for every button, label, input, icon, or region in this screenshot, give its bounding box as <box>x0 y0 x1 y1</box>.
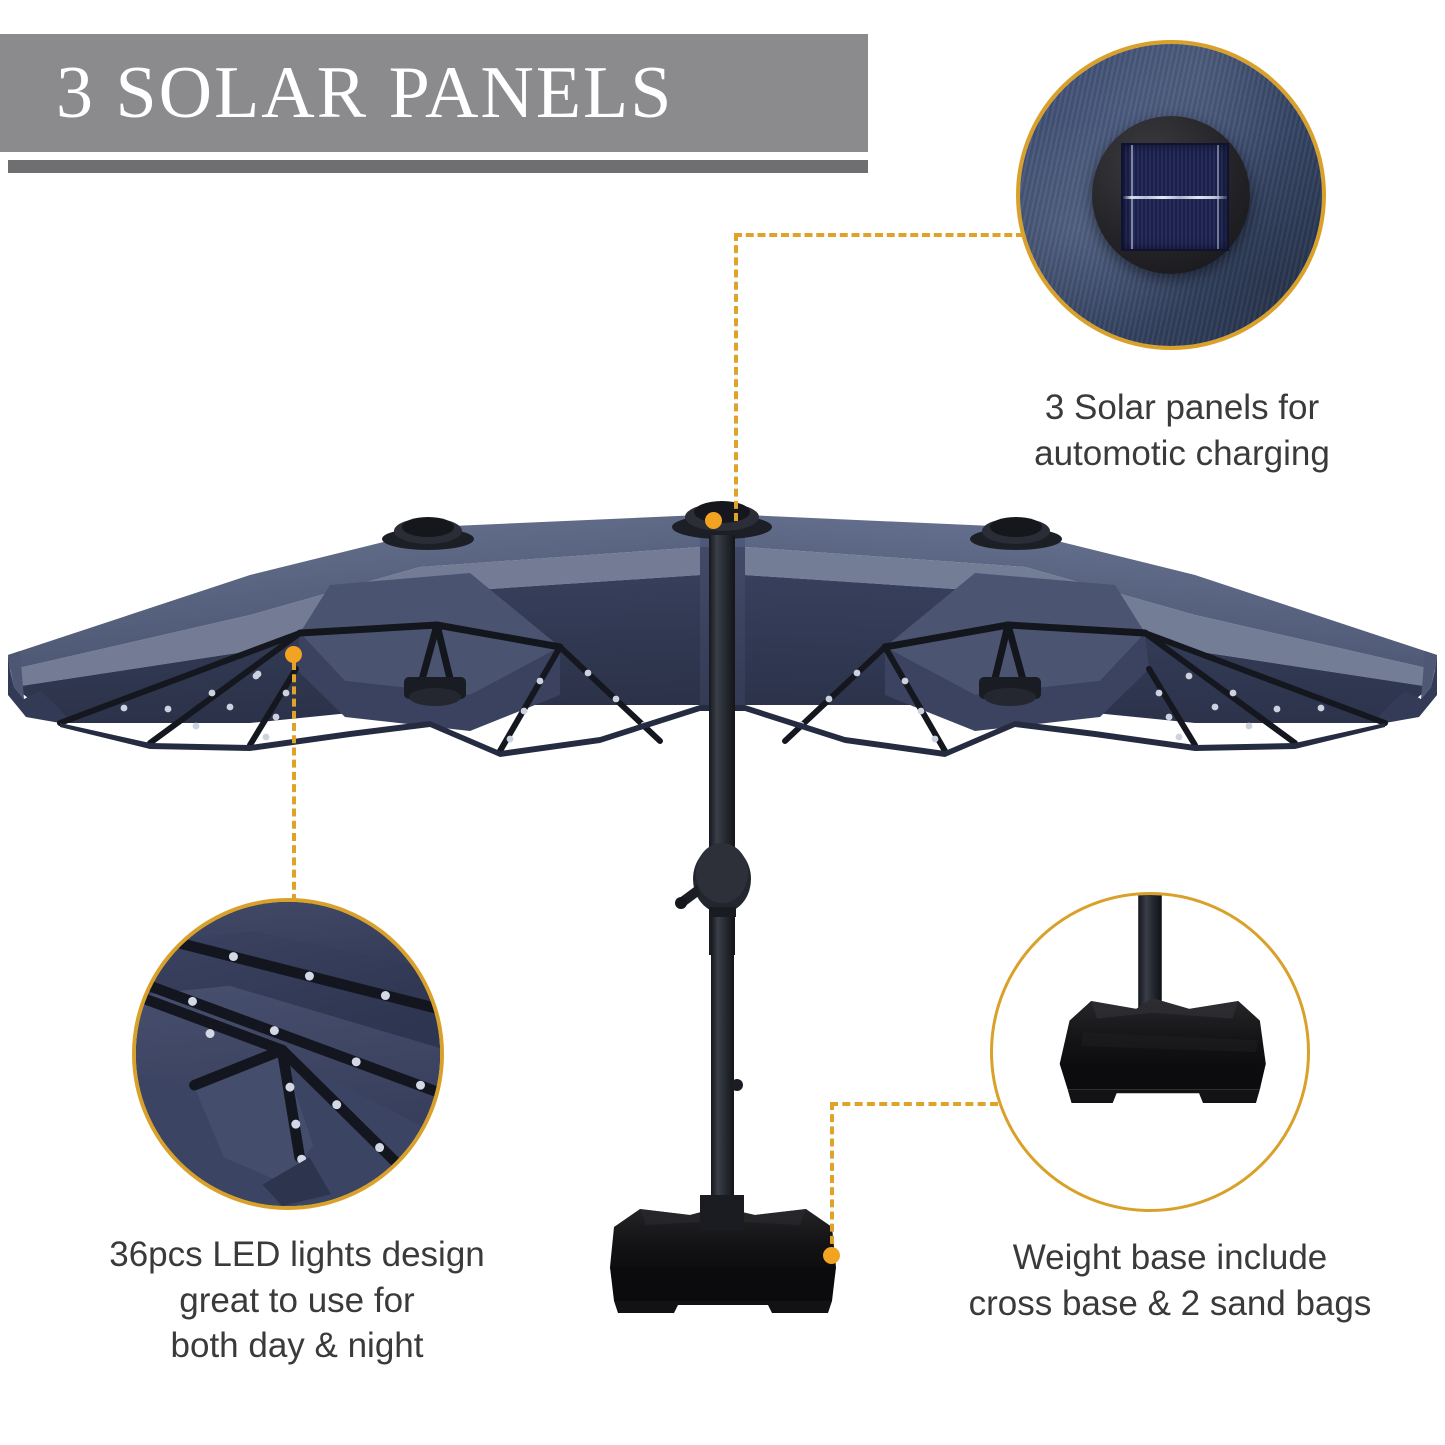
callout-circle-led <box>132 898 444 1210</box>
caption-led-line3: both day & night <box>52 1323 542 1369</box>
leader-line-solar-vertical <box>734 233 738 521</box>
leader-line-solar-horizontal <box>734 233 1024 237</box>
led-lights-closeup-icon <box>136 902 440 1206</box>
callout-circle-base <box>990 892 1310 1212</box>
leader-line-led-vertical <box>292 662 296 902</box>
solar-cell <box>1121 143 1229 251</box>
anchor-dot-led <box>285 646 302 663</box>
caption-solar-line2: automotic charging <box>982 431 1382 477</box>
solar-hub-housing <box>1092 116 1250 274</box>
leader-line-base-horizontal <box>830 1102 998 1106</box>
header-underbar <box>8 160 868 173</box>
caption-led: 36pcs LED lights design great to use for… <box>52 1232 542 1369</box>
anchor-dot-base <box>823 1247 840 1264</box>
solar-busbar-horizontal <box>1123 196 1227 199</box>
weight-base-closeup-icon <box>993 895 1307 1209</box>
caption-led-line2: great to use for <box>52 1278 542 1324</box>
caption-solar-line1: 3 Solar panels for <box>982 385 1382 431</box>
leader-line-base-vertical <box>830 1102 834 1256</box>
caption-led-line1: 36pcs LED lights design <box>52 1232 542 1278</box>
anchor-dot-solar <box>705 512 722 529</box>
caption-base: Weight base include cross base & 2 sand … <box>930 1235 1410 1326</box>
callout-circle-solar <box>1016 40 1326 350</box>
caption-solar: 3 Solar panels for automotic charging <box>982 385 1382 476</box>
caption-base-line2: cross base & 2 sand bags <box>930 1281 1410 1327</box>
caption-base-line1: Weight base include <box>930 1235 1410 1281</box>
header-banner: 3 SOLAR PANELS <box>0 34 868 152</box>
page-title: 3 SOLAR PANELS <box>0 34 868 152</box>
infographic-canvas: 3 SOLAR PANELS <box>0 0 1445 1445</box>
